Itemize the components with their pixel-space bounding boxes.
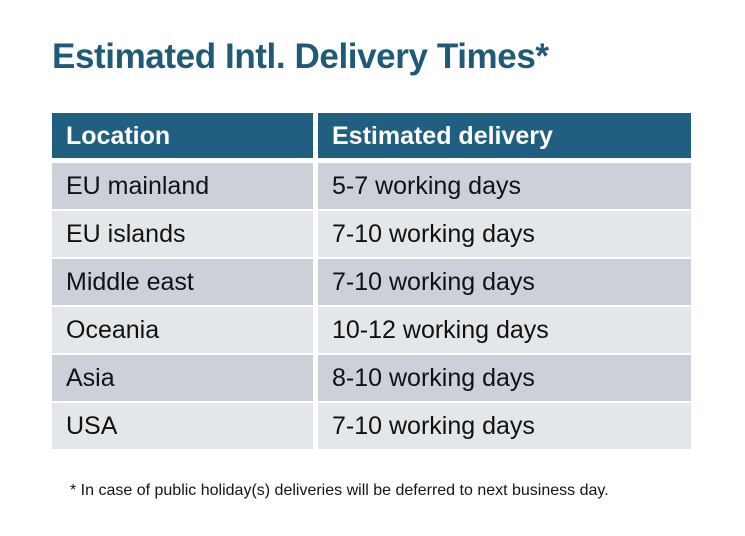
cell-location: EU islands [52, 211, 313, 257]
cell-location: Asia [52, 355, 313, 401]
table-row: Middle east 7-10 working days [52, 259, 691, 305]
cell-estimated-delivery: 5-7 working days [318, 163, 691, 209]
page-title: Estimated Intl. Delivery Times* [52, 36, 549, 78]
cell-estimated-delivery: 8-10 working days [318, 355, 691, 401]
cell-estimated-delivery: 7-10 working days [318, 211, 691, 257]
table-row: Asia 8-10 working days [52, 355, 691, 401]
column-header-location: Location [52, 113, 313, 158]
cell-location: USA [52, 403, 313, 449]
cell-estimated-delivery: 7-10 working days [318, 259, 691, 305]
table-row: EU islands 7-10 working days [52, 211, 691, 257]
delivery-times-table: Location Estimated delivery EU mainland … [52, 113, 691, 451]
table-row: Oceania 10-12 working days [52, 307, 691, 353]
column-header-estimated-delivery: Estimated delivery [318, 113, 691, 158]
cell-estimated-delivery: 7-10 working days [318, 403, 691, 449]
table-row: EU mainland 5-7 working days [52, 163, 691, 209]
footnote-text: * In case of public holiday(s) deliverie… [70, 481, 609, 501]
cell-location: Oceania [52, 307, 313, 353]
cell-location: Middle east [52, 259, 313, 305]
table-header-row: Location Estimated delivery [52, 113, 691, 158]
cell-location: EU mainland [52, 163, 313, 209]
table-row: USA 7-10 working days [52, 403, 691, 449]
cell-estimated-delivery: 10-12 working days [318, 307, 691, 353]
delivery-times-document: Estimated Intl. Delivery Times* Location… [0, 0, 745, 536]
